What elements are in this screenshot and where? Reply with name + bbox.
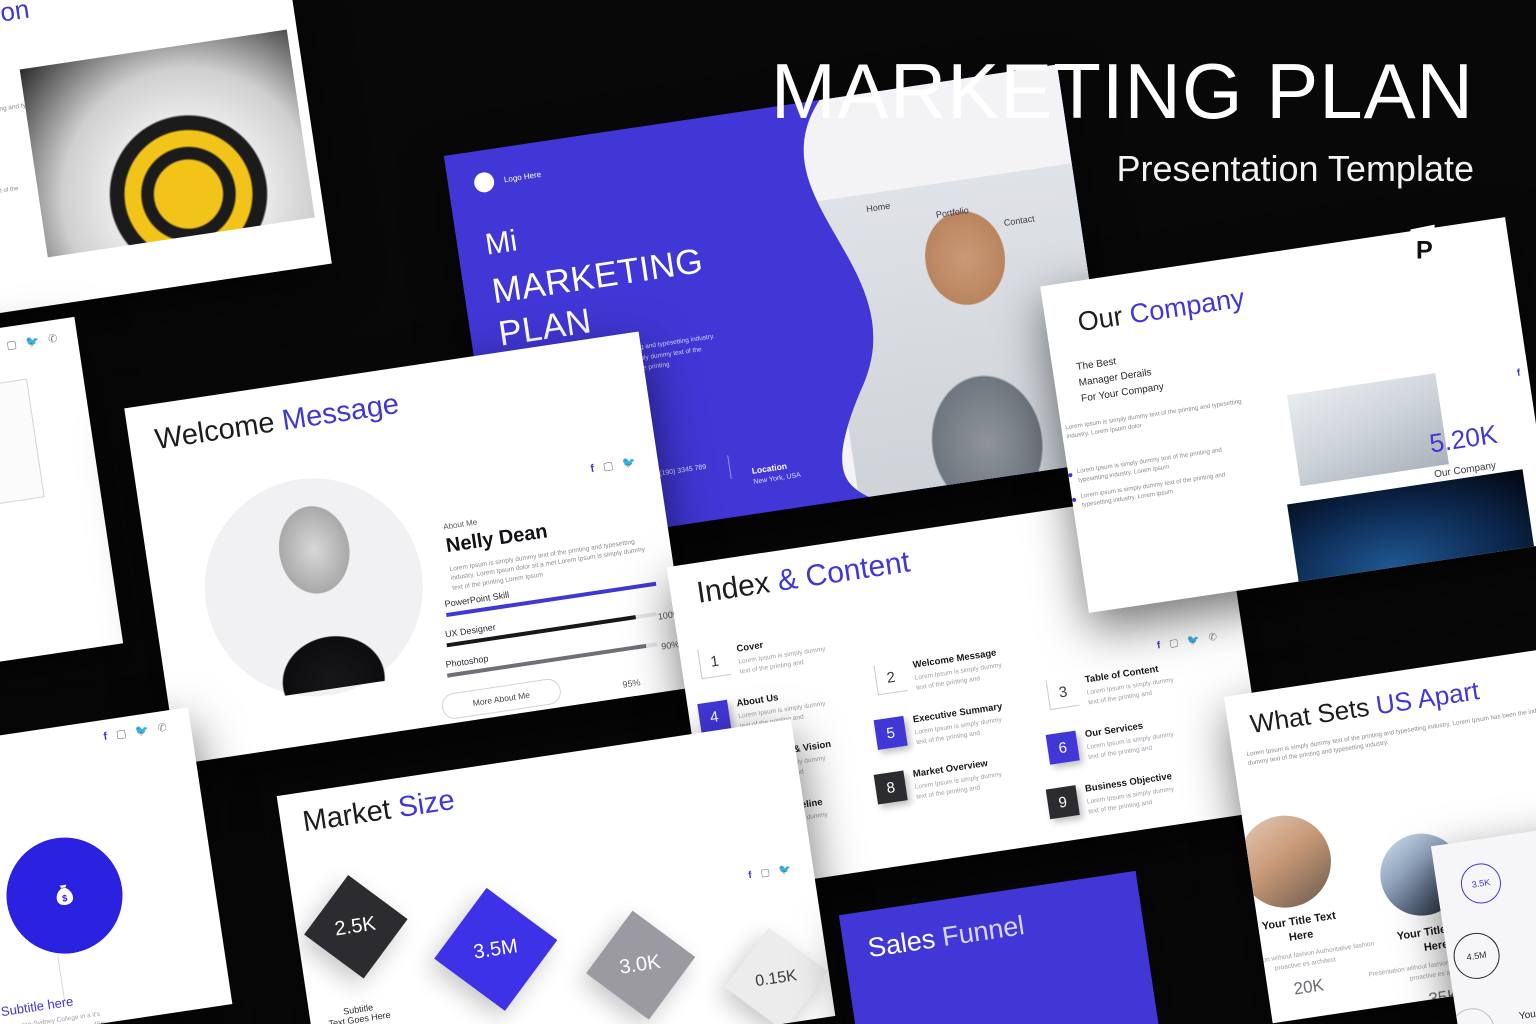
index-entry[interactable]: 3 Table of Content Lorem Ipsum is simply… xyxy=(1046,660,1184,713)
twitter-icon[interactable]: 🐦 xyxy=(134,725,149,738)
nav-item-contact[interactable]: Contact xyxy=(1003,213,1035,227)
market-diamond: 0.15K xyxy=(724,927,828,1024)
powerpoint-icon: P xyxy=(1408,222,1466,278)
company-title-dark: Our xyxy=(1076,301,1125,337)
index-number: 3 xyxy=(1046,676,1080,710)
welcome-title-blue: Message xyxy=(280,388,401,437)
mission-metric-desc: Lorem Ipsum is simply dummy text of the … xyxy=(0,185,21,218)
instagram-icon[interactable]: ▢ xyxy=(760,868,771,879)
instagram-icon[interactable]: ▢ xyxy=(115,729,127,741)
market-caption: Subtitle Text Goes Here 01 Hampden-Sydne… xyxy=(303,996,420,1024)
metric-caption-title: Your xyxy=(1518,1008,1536,1022)
metric-ring: 4.5M xyxy=(1450,930,1502,982)
feature-circle[interactable] xyxy=(0,782,1,909)
slide-sales-funnel[interactable]: Sales Funnel xyxy=(839,871,1165,1024)
slide-welcome-message[interactable]: Welcome Message f ▢ 🐦 About Me Nelly Dea… xyxy=(124,332,691,765)
bullet-dot-icon xyxy=(1068,473,1073,478)
skill-percent: 95% xyxy=(622,677,641,690)
market-caption: Subtitle Text Goes Here xyxy=(446,1019,558,1024)
company-title-blue: Company xyxy=(1128,283,1247,330)
whatsapp-icon[interactable]: ✆ xyxy=(157,723,168,735)
index-title-blue: & Content xyxy=(775,545,912,597)
template-preview-canvas: MARKETING PLAN Presentation Template P M… xyxy=(0,0,1536,1024)
nav-item-portfolio[interactable]: Portfolio xyxy=(935,205,969,220)
social-row[interactable]: f ▢ 🐦 ✆ xyxy=(0,334,58,354)
twitter-icon[interactable]: 🐦 xyxy=(25,336,40,349)
apart-card-photo xyxy=(1233,809,1338,914)
more-about-me-button[interactable]: More About Me xyxy=(440,677,563,720)
market-caption-line1: Subtitle xyxy=(446,1019,556,1024)
market-diamond-value: 0.15K xyxy=(754,967,798,991)
social-row[interactable]: f ▢ 🐦 xyxy=(748,865,792,881)
market-diamond-value: 3.0K xyxy=(619,951,663,980)
social-row[interactable]: f ▢ 🐦 ✆ xyxy=(1156,633,1217,652)
index-title-dark: Index xyxy=(694,566,771,609)
slide-mission-vision[interactable]: Mission / Vision The Best Manager Derail… xyxy=(0,0,332,333)
index-number: 8 xyxy=(874,770,908,804)
social-row[interactable]: f ▢ 🐦 xyxy=(590,457,637,475)
social-row[interactable]: f xyxy=(1516,369,1521,379)
index-entry[interactable]: 8 Market Overview Lorem Ipsum is simply … xyxy=(874,755,1012,808)
mission-title-blue: Vision xyxy=(0,0,31,34)
money-bag-icon: $ xyxy=(49,880,81,912)
apart-card: Your Title Text Here Presentation withou… xyxy=(1224,903,1385,1009)
index-number: 9 xyxy=(1046,785,1080,819)
nav-item-home[interactable]: Home xyxy=(866,201,891,214)
index-entry[interactable]: 6 Our Services Lorem Ipsum is simply dum… xyxy=(1046,715,1184,768)
whatsapp-icon[interactable]: ✆ xyxy=(1208,633,1218,644)
facebook-icon[interactable]: f xyxy=(590,464,595,475)
market-diamond: 3.0K xyxy=(586,911,695,1020)
index-entry[interactable]: 5 Executive Summary Lorem Ipsum is simpl… xyxy=(874,700,1012,753)
instagram-icon[interactable]: ▢ xyxy=(1169,638,1180,649)
feature-circle[interactable]: $ xyxy=(0,830,130,962)
svg-text:P: P xyxy=(1416,236,1433,264)
facebook-icon[interactable]: f xyxy=(1516,369,1521,379)
cover-footer-location: Location New York, USA xyxy=(751,459,801,486)
slide-partial-left[interactable]: f ▢ 🐦 ✆ Lorem ipsum is simply dummy text… xyxy=(0,317,123,677)
market-diamond: 3.5M xyxy=(434,888,557,1011)
welcome-title-dark: Welcome xyxy=(153,407,277,456)
feature-body: Hampden-Sydney College in a it's classic… xyxy=(0,955,7,1004)
market-title-dark: Market xyxy=(301,794,393,839)
index-number: 1 xyxy=(697,645,731,679)
twitter-icon[interactable]: 🐦 xyxy=(778,865,792,877)
facebook-icon[interactable]: f xyxy=(748,871,753,881)
feature-caption: Subtitle here Hampden-Sydney College in … xyxy=(0,936,7,1004)
social-row[interactable]: f ▢ 🐦 ✆ xyxy=(103,723,168,743)
hero-text-block: MARKETING PLAN Presentation Template xyxy=(771,52,1474,190)
divider-2 xyxy=(727,455,732,479)
market-diamond-value: 2.5K xyxy=(334,912,378,941)
funnel-title-light: Funnel xyxy=(940,910,1026,952)
instagram-icon[interactable]: ▢ xyxy=(6,340,18,352)
metric-ring: 3.5K xyxy=(1458,861,1503,906)
facebook-icon[interactable]: f xyxy=(103,732,108,743)
slide-market-size[interactable]: Market Size f ▢ 🐦 2.5K 3.5M 3.0K 0.15K S… xyxy=(277,719,836,1024)
metric-ring: 5.5B xyxy=(1448,1005,1498,1024)
logo-label: Logo Here xyxy=(503,169,541,183)
index-number: 5 xyxy=(874,716,908,750)
facebook-icon[interactable]: f xyxy=(1156,641,1161,651)
funnel-title-white: Sales xyxy=(866,923,937,963)
company-photo-team xyxy=(1287,373,1449,486)
logo-block[interactable]: Logo Here xyxy=(473,164,543,194)
page-title: MARKETING PLAN xyxy=(771,52,1474,130)
image-frame-placeholder xyxy=(0,378,45,520)
feature-caption: Subtitle here Hampden-Sydney College in … xyxy=(0,986,129,1024)
index-number: 2 xyxy=(874,661,908,695)
apart-card-value: 20K xyxy=(1233,967,1384,1009)
index-number: 6 xyxy=(1046,731,1080,765)
market-diamond-value: 3.5M xyxy=(472,935,519,964)
company-chart-image xyxy=(1287,469,1536,613)
twitter-icon[interactable]: 🐦 xyxy=(622,457,637,470)
index-entry[interactable]: 9 Business Objective Lorem Ipsum is simp… xyxy=(1046,770,1184,823)
cover-heading-small: Mi xyxy=(483,224,519,261)
cover-heading-big: MARKETING xyxy=(490,241,706,312)
mission-photo-dartboard xyxy=(20,30,315,258)
market-diamond: 2.5K xyxy=(304,875,408,979)
apart-title-blue: US Apart xyxy=(1374,675,1481,720)
market-title-blue: Size xyxy=(396,784,457,824)
index-entry[interactable]: 2 Welcome Message Lorem Ipsum is simply … xyxy=(874,646,1012,699)
index-entry[interactable]: 1 Cover Lorem Ipsum is simply dummy text… xyxy=(697,630,835,683)
logo-mark-icon xyxy=(473,171,496,194)
whatsapp-icon[interactable]: ✆ xyxy=(48,334,59,346)
apart-title-dark: What Sets xyxy=(1248,692,1371,739)
bullet-dot-icon xyxy=(1072,498,1077,503)
company-bullets: Lorem Ipsum is simply dummy text of the … xyxy=(1067,435,1256,512)
twitter-icon[interactable]: 🐦 xyxy=(1187,635,1201,647)
avatar xyxy=(231,479,409,699)
instagram-icon[interactable]: ▢ xyxy=(602,461,614,473)
page-subtitle: Presentation Template xyxy=(771,148,1474,190)
